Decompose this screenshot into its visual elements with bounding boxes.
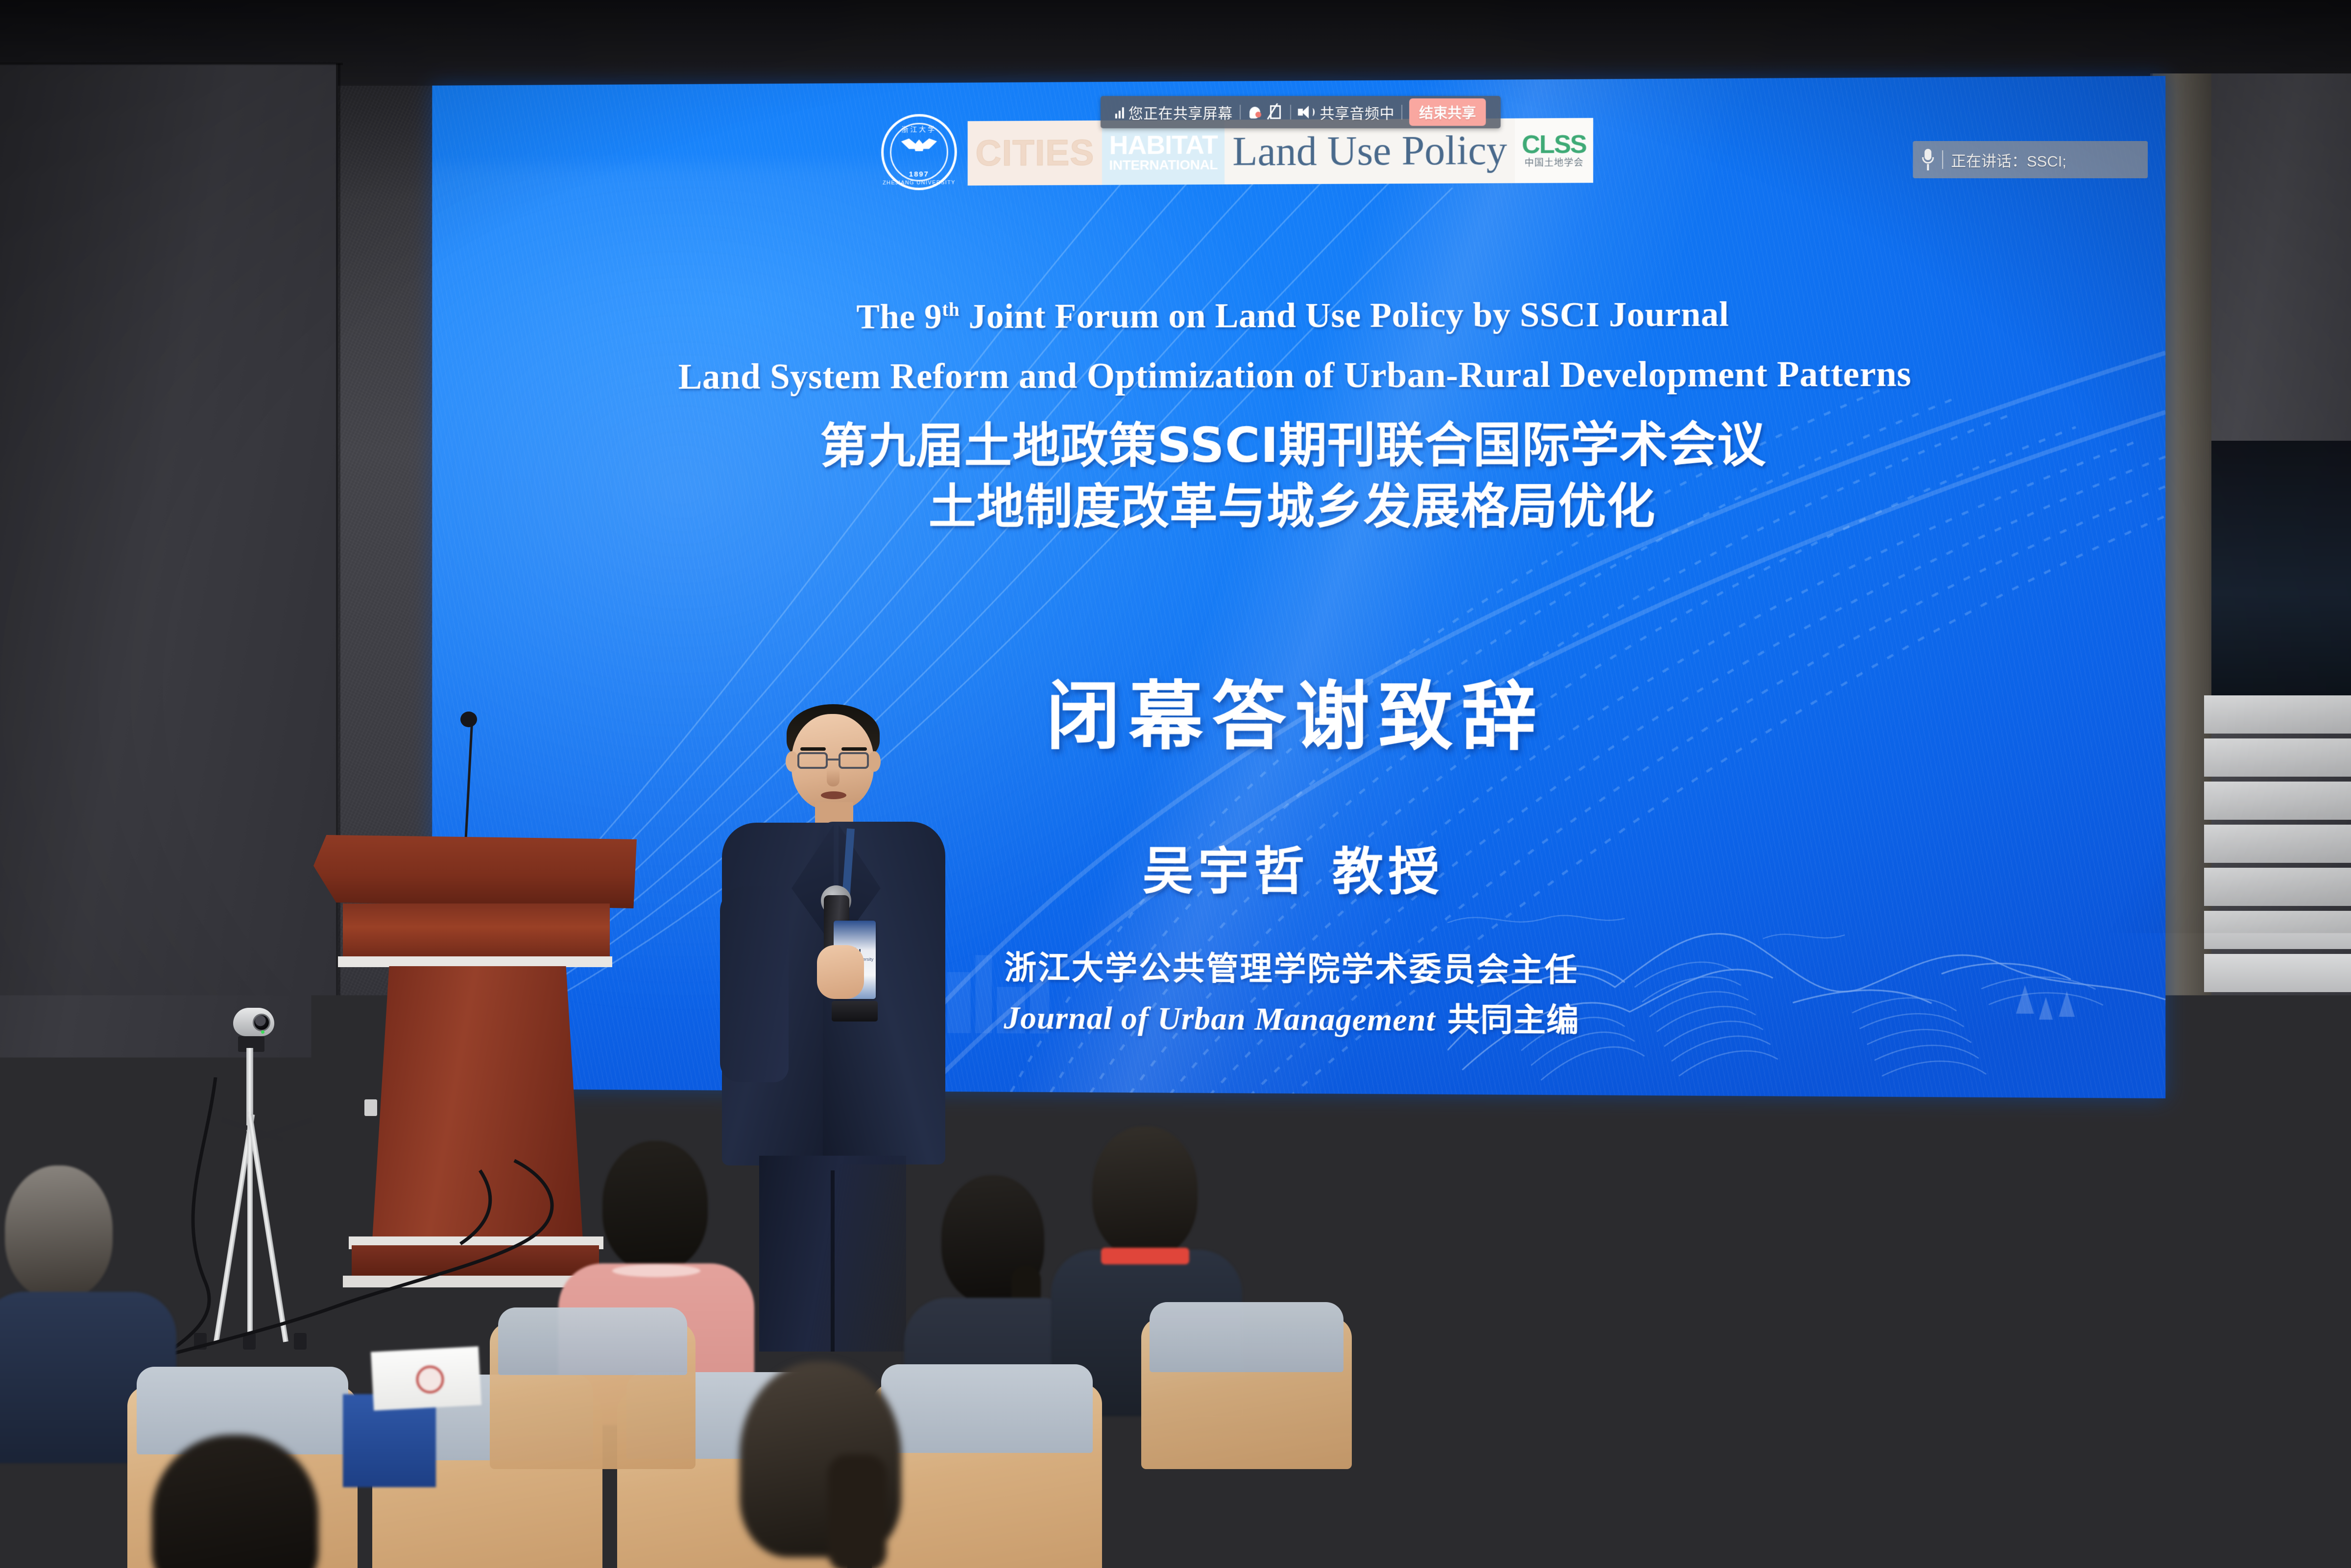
eyeglasses-bridge: [827, 759, 840, 760]
logo-cities: CITIES: [968, 120, 1103, 186]
logo-habitat-line1: HABITAT: [1109, 133, 1218, 159]
logo-habitat-international: HABITAT INTERNATIONAL: [1102, 120, 1224, 185]
audience-head: [1303, 1401, 1469, 1568]
gooseneck-microphone-icon: [460, 712, 477, 727]
lectern-trim: [338, 956, 612, 967]
slide-heading: 闭幕答谢致辞: [432, 656, 2165, 766]
belt-device: [832, 1001, 878, 1022]
logo-cities-text: CITIES: [975, 135, 1094, 171]
slide-affiliation-2: Journal of Urban Management 共同主编: [432, 989, 2165, 1044]
lectern-top: [313, 835, 637, 908]
speaker-icon[interactable]: [1298, 105, 1316, 119]
slide-title-cn-1: 第九届土地政策SSCI期刊联合国际学术会议: [432, 404, 2165, 477]
zhejiang-university-seal-icon: 浙江大学 1897 ZHEJIANG UNIVERSITY: [881, 114, 957, 190]
logo-lup-text: Land Use Policy: [1232, 130, 1507, 173]
audience-head: [602, 1141, 708, 1271]
seal-ring-text: ZHEJIANG UNIVERSITY: [883, 180, 956, 186]
active-speaker-indicator: 正在讲话：SSCI;: [1913, 141, 2148, 178]
active-speaker-label: 正在讲话：SSCI;: [1951, 148, 2066, 170]
slide-affiliation-1: 浙江大学公共管理学院学术委员会主任: [432, 939, 2165, 994]
presenter-hand: [817, 945, 864, 999]
led-presentation-screen: 浙江大学 1897 ZHEJIANG UNIVERSITY CITIES HAB…: [432, 76, 2165, 1098]
logo-clss-cn: 中国土地学会: [1524, 157, 1583, 169]
audience-head: [5, 1165, 113, 1299]
indicator-divider: [1942, 150, 1943, 169]
stairwell-shadow: [2209, 441, 2351, 695]
presenter-eyebrow: [800, 747, 826, 751]
auditorium-seat[interactable]: [1513, 1386, 1744, 1568]
slide-title-cn-2: 土地制度改革与城乡发展格局优化: [432, 467, 2165, 538]
lectern-apron: [343, 903, 610, 962]
webcam-icon: [233, 1008, 274, 1036]
logo-clss-abbr: CLSS: [1522, 132, 1586, 158]
camera-status-led: [261, 1030, 264, 1034]
end-share-group[interactable]: 结束共享: [1402, 98, 1493, 126]
signal-icon: [1115, 106, 1124, 119]
presenter-ear: [868, 751, 881, 772]
ceiling-band: [0, 0, 2351, 86]
slide-title-en-1: The 9th Joint Forum on Land Use Policy b…: [432, 292, 2165, 338]
presenter-mouth: [821, 791, 846, 799]
audience-head: [2067, 1136, 2175, 1268]
auditorium-seat[interactable]: [490, 1322, 696, 1469]
foreground-audience-member: [122, 1435, 377, 1568]
seal-cn-text: 浙江大学: [902, 124, 936, 134]
microphone-icon: [1921, 149, 1934, 170]
audience-head: [1092, 1126, 1198, 1258]
collar: [612, 1264, 700, 1277]
ponytail: [828, 1454, 887, 1568]
presenter-nose: [827, 769, 840, 786]
audio-share-group[interactable]: 共享音频中: [1291, 101, 1402, 123]
slide-journal-name: Journal of Urban Management: [1004, 1000, 1436, 1038]
screen-share-toolbar[interactable]: 您正在共享屏幕 共享音频中 结束共享: [1101, 96, 1501, 128]
slide-title-en-2: Land System Reform and Optimization of U…: [432, 353, 2165, 398]
camera-lens: [253, 1014, 270, 1031]
audience-head: [152, 1435, 318, 1568]
auditorium-seat[interactable]: [2219, 1405, 2351, 1568]
presenter-arm: [720, 886, 789, 1082]
logo-habitat-line2: INTERNATIONAL: [1109, 158, 1218, 172]
auditorium-seat[interactable]: [1842, 1322, 2047, 1469]
red-lanyard: [1101, 1248, 1189, 1264]
annotate-icon[interactable]: [1247, 104, 1264, 120]
seal-year: 1897: [909, 170, 929, 178]
audience-head: [1686, 1190, 1792, 1321]
trouser-seam: [831, 1170, 835, 1352]
wall-panel-left: [0, 64, 338, 1121]
slide-journal-role: 共同主编: [1436, 1000, 1579, 1039]
foreground-audience-member: [1278, 1401, 1533, 1568]
conference-room-screenshot: 浙江大学 1897 ZHEJIANG UNIVERSITY CITIES HAB…: [0, 0, 2351, 1568]
audio-share-label: 共享音频中: [1319, 101, 1394, 123]
auditorium-stairs: [2204, 695, 2351, 1048]
presenter-eyebrow: [841, 747, 867, 751]
end-share-button[interactable]: 结束共享: [1409, 98, 1486, 126]
share-status-group: 您正在共享屏幕: [1108, 101, 1240, 123]
tote-bag-seal-icon: [416, 1366, 444, 1393]
presenter-ear: [786, 751, 798, 772]
logo-clss: CLSS 中国土地学会: [1515, 118, 1593, 183]
eyeglasses-icon: [839, 752, 869, 769]
wall-seam: [0, 63, 343, 65]
foreground-audience-member: [705, 1361, 960, 1568]
eyeglasses-icon: [797, 752, 828, 769]
share-status-label: 您正在共享屏幕: [1128, 101, 1233, 123]
slide-speaker-name: 吴宇哲 教授: [432, 828, 2165, 907]
annotation-tools-group[interactable]: [1241, 104, 1290, 120]
conference-materials: [343, 1349, 480, 1423]
pen-strike-icon[interactable]: [1269, 104, 1283, 120]
